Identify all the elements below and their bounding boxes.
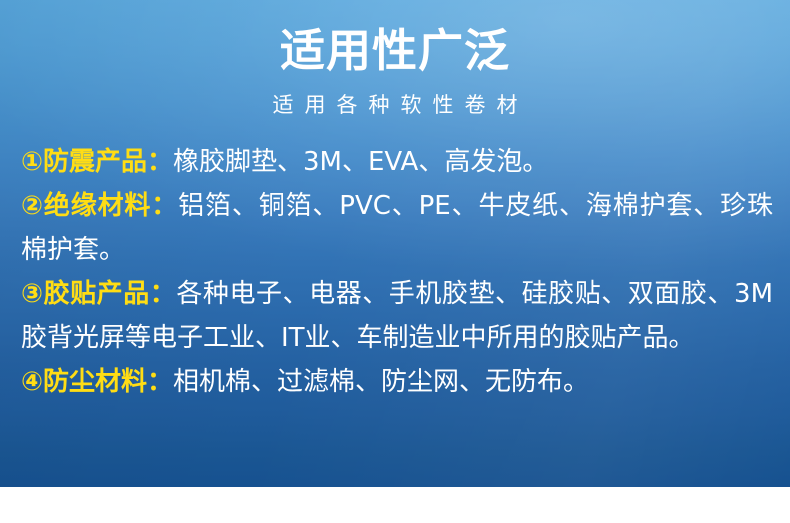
list-item-label: ③胶贴产品：: [21, 279, 176, 309]
page-title: 适用性广泛: [0, 23, 790, 79]
promo-banner-page: 适用性广泛 适用各种软性卷材 ①防震产品：橡胶脚垫、3M、EVA、高发泡。 ②绝…: [0, 0, 790, 523]
list-item-body: 橡胶脚垫、3M、EVA、高发泡。: [173, 147, 548, 177]
list-item: ①防震产品：橡胶脚垫、3M、EVA、高发泡。: [21, 140, 773, 184]
list-item: ④防尘材料：相机棉、过滤棉、防尘网、无防布。: [21, 360, 773, 404]
blue-gradient-banner: 适用性广泛 适用各种软性卷材 ①防震产品：橡胶脚垫、3M、EVA、高发泡。 ②绝…: [0, 0, 790, 487]
list-item-label: ④防尘材料：: [21, 367, 173, 397]
page-subtitle: 适用各种软性卷材: [0, 90, 790, 120]
list-item: ③胶贴产品：各种电子、电器、手机胶垫、硅胶贴、双面胶、3M胶背光屏等电子工业、I…: [21, 272, 773, 360]
feature-list: ①防震产品：橡胶脚垫、3M、EVA、高发泡。 ②绝缘材料：铝箔、铜箔、PVC、P…: [21, 140, 773, 404]
list-item-label: ②绝缘材料：: [21, 191, 178, 221]
list-item-body: 相机棉、过滤棉、防尘网、无防布。: [173, 367, 589, 397]
list-item: ②绝缘材料：铝箔、铜箔、PVC、PE、牛皮纸、海棉护套、珍珠棉护套。: [21, 184, 773, 272]
list-item-label: ①防震产品：: [21, 147, 173, 177]
